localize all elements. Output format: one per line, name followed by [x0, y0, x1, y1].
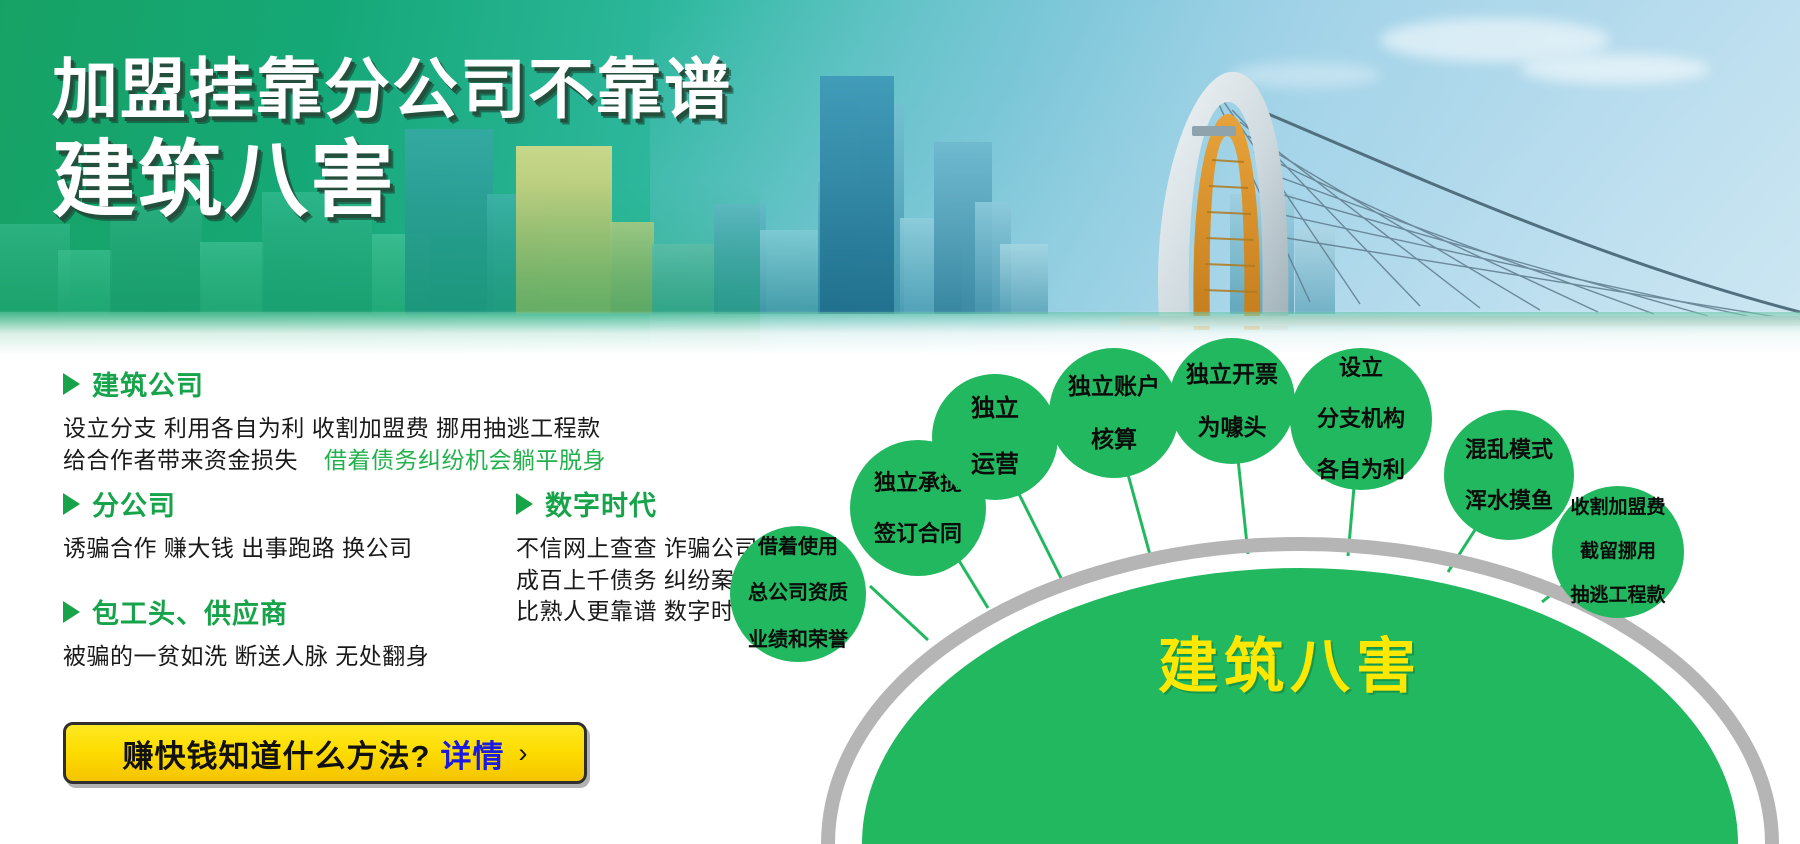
building-shape [820, 76, 894, 314]
section-body-line: 被骗的一贫如洗 断送人脉 无处翻身 [63, 641, 429, 673]
cta-button[interactable]: 赚快钱知道什么方法? 详情 › [63, 722, 587, 784]
bubble-item[interactable]: 独立开票为噱头 [1169, 338, 1295, 464]
bubble-text: 收割加盟费截留挪用抽逃工程款 [1562, 497, 1673, 607]
dome-label: 建筑八害 [1158, 618, 1422, 705]
section-title: 包工头、供应商 [92, 592, 288, 631]
chevron-right-icon: › [518, 738, 527, 769]
cta-main-label: 赚快钱知道什么方法? [123, 731, 431, 776]
hero-banner: 加盟挂靠分公司不靠谱 建筑八害 [0, 0, 1800, 372]
body-text: 设立分支 利用各自为利 收割加盟费 挪用抽逃工程款 [63, 415, 601, 441]
bubble-item[interactable]: 收割加盟费截留挪用抽逃工程款 [1552, 486, 1684, 618]
section-header: 包工头、供应商 [63, 592, 429, 631]
bubble-item[interactable]: 混乱模式浑水摸鱼 [1444, 410, 1574, 540]
section-body-line: 给合作者带来资金损失借着债务纠纷机会躺平脱身 [63, 445, 606, 477]
body-text-accent: 借着债务纠纷机会躺平脱身 [324, 447, 606, 473]
section-body-line: 比熟人更靠谱 数字时代 [516, 596, 758, 628]
section-title: 数字时代 [545, 484, 657, 523]
bridge-illustration [1120, 40, 1800, 330]
triangle-bullet-icon [63, 601, 80, 623]
triangle-bullet-icon [516, 493, 533, 515]
bubble-text: 设立分支机构各自为利 [1309, 355, 1413, 483]
bubble-item[interactable]: 借着使用总公司资质业绩和荣誉 [730, 526, 866, 662]
bubble-item[interactable]: 独立账户核算 [1049, 348, 1179, 478]
bubble-text: 独立运营 [963, 395, 1027, 478]
section-body-line: 诱骗合作 赚大钱 出事跑路 换公司 [63, 533, 413, 565]
hero-title-block: 加盟挂靠分公司不靠谱 建筑八害 [52, 56, 732, 222]
bubble-text: 混乱模式浑水摸鱼 [1457, 437, 1561, 514]
section-body-line: 不信网上查查 诈骗公司 [516, 533, 758, 565]
bubble-diagram: 建筑八害 借着使用总公司资质业绩和荣誉 独立承揽签订合同 独立运营 独立账户核算… [800, 340, 1800, 844]
hero-title-line1: 加盟挂靠分公司不靠谱 [52, 56, 732, 122]
body-text: 给合作者带来资金损失 [63, 447, 298, 473]
triangle-bullet-icon [63, 373, 80, 395]
bubble-item[interactable]: 独立运营 [932, 374, 1058, 500]
section-header: 建筑公司 [63, 364, 606, 403]
triangle-bullet-icon [63, 493, 80, 515]
bubble-item[interactable]: 设立分支机构各自为利 [1290, 348, 1432, 490]
section-contractor-supplier: 包工头、供应商 被骗的一贫如洗 断送人脉 无处翻身 [63, 592, 429, 673]
section-title: 建筑公司 [92, 364, 204, 403]
section-branch-company: 分公司 诱骗合作 赚大钱 出事跑路 换公司 [63, 484, 413, 565]
hero-title-line2: 建筑八害 [52, 138, 732, 222]
building-shape [1000, 244, 1048, 314]
poster-canvas: 加盟挂靠分公司不靠谱 建筑八害 建筑公司 设立分支 利用各自为利 收割加盟费 挪… [0, 0, 1800, 844]
section-construction-company: 建筑公司 设立分支 利用各自为利 收割加盟费 挪用抽逃工程款 给合作者带来资金损… [63, 364, 606, 476]
bubble-text: 独立开票为噱头 [1178, 361, 1286, 441]
section-title: 分公司 [92, 484, 176, 523]
cta-detail-link[interactable]: 详情 [440, 731, 504, 776]
section-header: 数字时代 [516, 484, 758, 523]
section-digital-era: 数字时代 不信网上查查 诈骗公司 成百上千债务 纠纷案件 比熟人更靠谱 数字时代 [516, 484, 758, 628]
section-body-line: 成百上千债务 纠纷案件 [516, 565, 758, 597]
bubble-text: 借着使用总公司资质业绩和荣誉 [740, 536, 856, 652]
section-header: 分公司 [63, 484, 413, 523]
bubble-text: 独立账户核算 [1060, 373, 1168, 453]
section-body-line: 设立分支 利用各自为利 收割加盟费 挪用抽逃工程款 [63, 413, 606, 445]
